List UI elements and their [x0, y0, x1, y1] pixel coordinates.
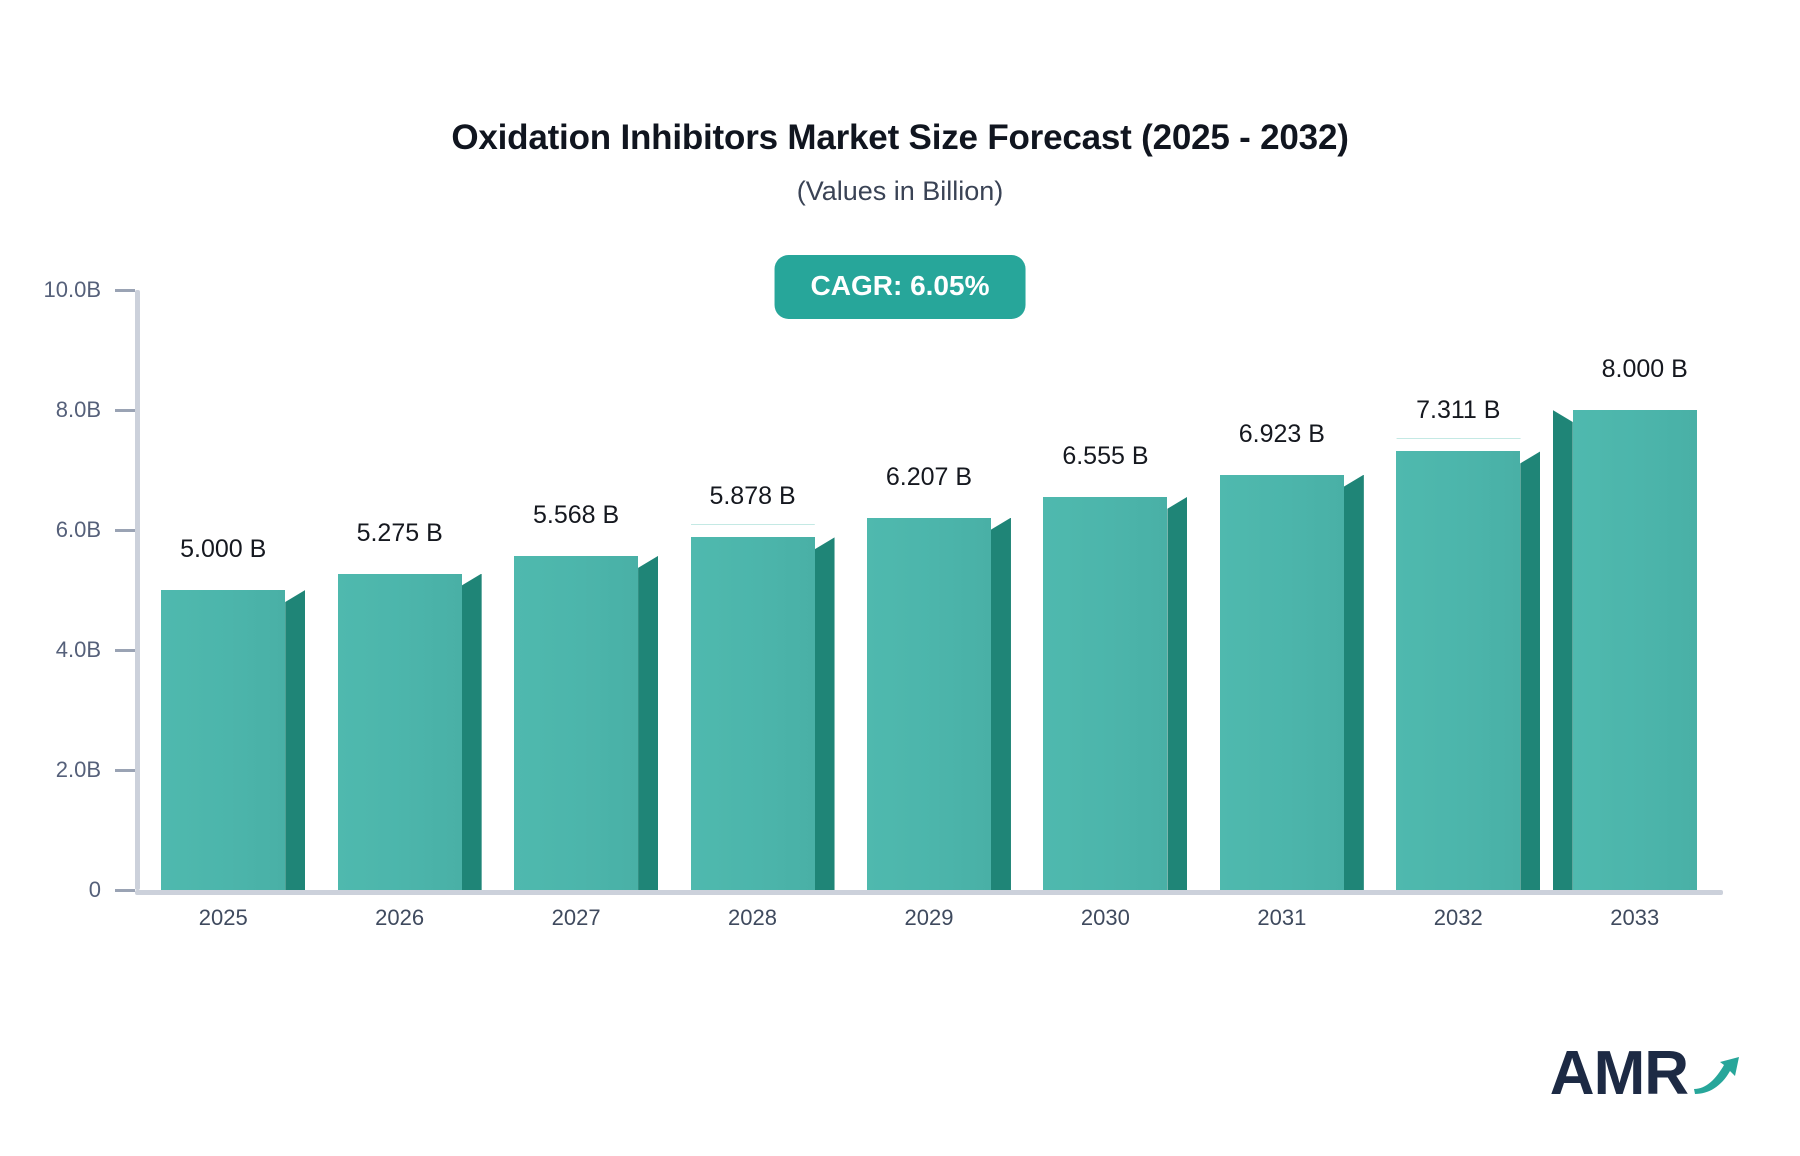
- bar-side-face: [1520, 451, 1540, 890]
- bar-top-face: [1043, 484, 1187, 497]
- growth-arrow-icon: [1690, 1049, 1742, 1100]
- bar-slot: 5.000 B: [135, 290, 311, 890]
- x-axis-label: 2031: [1194, 905, 1370, 931]
- x-axis-label: 2027: [488, 905, 664, 931]
- bar-front-face: [338, 574, 462, 891]
- y-axis-tick-mark: [115, 529, 135, 532]
- y-axis-tick: 4.0B: [56, 637, 135, 663]
- x-axis-label: 2030: [1017, 905, 1193, 931]
- bar[interactable]: 6.207 B: [867, 518, 991, 890]
- bar-top-face: [1396, 438, 1540, 451]
- bar-front-face: [691, 537, 815, 890]
- bar[interactable]: 5.000 B: [161, 590, 285, 890]
- x-axis-spine: [135, 890, 1723, 895]
- bar-top-face: [338, 561, 482, 574]
- bar-slot: 6.207 B: [841, 290, 1017, 890]
- bar-front-face: [1573, 410, 1697, 890]
- bar-top-face: [161, 577, 305, 590]
- bar-slot: 6.923 B: [1194, 290, 1370, 890]
- bar-value-label: 6.923 B: [1239, 420, 1325, 449]
- bar[interactable]: 5.275 B: [338, 574, 462, 891]
- bar-side-face: [285, 590, 305, 890]
- bar-side-face: [1167, 497, 1187, 890]
- bar-side-face: [815, 537, 835, 890]
- bar-slot: 5.275 B: [311, 290, 487, 890]
- bar-series: 5.000 B5.275 B5.568 B5.878 B6.207 B6.555…: [135, 290, 1723, 890]
- bar-top-face: [1553, 397, 1697, 410]
- bar-value-label: 7.311 B: [1416, 396, 1500, 425]
- bar-side-face: [1553, 410, 1573, 890]
- bar-value-label: 5.275 B: [357, 519, 443, 548]
- bar-slot: 8.000 B: [1547, 290, 1723, 890]
- bar-top-face: [867, 505, 1011, 518]
- y-axis-tick-label: 6.0B: [56, 517, 101, 543]
- x-axis-label: 2032: [1370, 905, 1546, 931]
- y-axis-tick-label: 4.0B: [56, 637, 101, 663]
- bar-side-face: [991, 518, 1011, 890]
- bar[interactable]: 8.000 B: [1573, 410, 1697, 890]
- y-axis-tick-mark: [115, 289, 135, 292]
- page-title: Oxidation Inhibitors Market Size Forecas…: [0, 118, 1800, 158]
- bar-value-label: 8.000 B: [1602, 355, 1688, 384]
- x-axis-label: 2025: [135, 905, 311, 931]
- bar-value-label: 5.878 B: [709, 482, 795, 511]
- bar-slot: 7.311 B: [1370, 290, 1546, 890]
- chart-page: Oxidation Inhibitors Market Size Forecas…: [0, 0, 1800, 1156]
- bar-slot: 6.555 B: [1017, 290, 1193, 890]
- bar-top-face: [514, 543, 658, 556]
- y-axis-tick-mark: [115, 889, 135, 892]
- bar-side-face: [1344, 475, 1364, 890]
- x-axis-label: 2029: [841, 905, 1017, 931]
- bar-front-face: [161, 590, 285, 890]
- bar-front-face: [1396, 451, 1520, 890]
- y-axis-tick: 6.0B: [56, 517, 135, 543]
- bar-top-face: [691, 524, 835, 537]
- x-axis-labels: 202520262027202820292030203120322033: [135, 905, 1723, 931]
- bar-side-face: [462, 574, 482, 891]
- y-axis-tick-mark: [115, 409, 135, 412]
- x-axis-label: 2033: [1547, 905, 1723, 931]
- bar-value-label: 6.207 B: [886, 463, 972, 492]
- bar-front-face: [867, 518, 991, 890]
- y-axis-tick-label: 2.0B: [56, 757, 101, 783]
- bar[interactable]: 7.311 B: [1396, 451, 1520, 890]
- plot-area: 10.0B8.0B6.0B4.0B2.0B0 5.000 B5.275 B5.5…: [135, 290, 1723, 890]
- bar-top-face: [1220, 462, 1364, 475]
- bar[interactable]: 6.555 B: [1043, 497, 1167, 890]
- bar[interactable]: 5.878 B: [691, 537, 815, 890]
- logo-wordmark: AMR: [1550, 1045, 1688, 1104]
- bar-value-label: 6.555 B: [1062, 442, 1148, 471]
- y-axis-tick-mark: [115, 649, 135, 652]
- y-axis-tick: 2.0B: [56, 757, 135, 783]
- bar-front-face: [1220, 475, 1344, 890]
- y-axis-tick: 8.0B: [56, 397, 135, 423]
- amr-logo: AMR: [1550, 1045, 1742, 1104]
- bar-front-face: [1043, 497, 1167, 890]
- bar-front-face: [514, 556, 638, 890]
- y-axis-tick-mark: [115, 769, 135, 772]
- y-axis-tick-label: 10.0B: [44, 277, 102, 303]
- bar-value-label: 5.000 B: [180, 535, 266, 564]
- bar-value-label: 5.568 B: [533, 501, 619, 530]
- bar[interactable]: 5.568 B: [514, 556, 638, 890]
- x-axis-label: 2026: [311, 905, 487, 931]
- chart-subtitle: (Values in Billion): [0, 176, 1800, 207]
- y-axis-tick-label: 0: [89, 877, 101, 903]
- x-axis-label: 2028: [664, 905, 840, 931]
- y-axis-tick: 0: [89, 877, 135, 903]
- y-axis-tick: 10.0B: [44, 277, 136, 303]
- bar-side-face: [638, 556, 658, 890]
- bar-slot: 5.568 B: [488, 290, 664, 890]
- y-axis-tick-label: 8.0B: [56, 397, 101, 423]
- bar[interactable]: 6.923 B: [1220, 475, 1344, 890]
- bar-slot: 5.878 B: [664, 290, 840, 890]
